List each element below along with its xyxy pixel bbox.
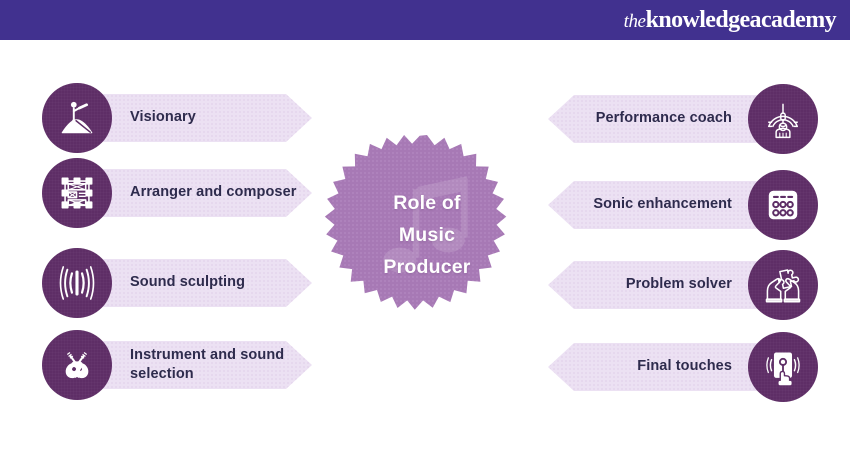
list-item-label: Visionary [130, 108, 196, 127]
brand-header: theknowledgeacademy [0, 0, 850, 40]
list-item-label: Sound sculpting [130, 273, 245, 292]
list-item-problem-solver[interactable]: Problem solver [548, 250, 818, 320]
crossed-guitars-icon [42, 330, 112, 400]
performance-coach-icon [748, 84, 818, 154]
list-item-arranger-and-composer[interactable]: Arranger and composer [42, 158, 312, 228]
list-item-sound-sculpting[interactable]: Sound sculpting [42, 248, 312, 318]
sound-wave-icon [42, 248, 112, 318]
list-item-visionary[interactable]: Visionary [42, 83, 312, 153]
mixer-panel-icon [748, 170, 818, 240]
banner-instrument-and-sound-selection: Instrument and sound selection [94, 341, 312, 389]
banner-problem-solver: Problem solver [548, 261, 766, 309]
brand-logo-name: knowledgeacademy [646, 7, 836, 33]
list-item-label: Instrument and sound selection [130, 346, 312, 384]
visionary-telescope-icon [42, 83, 112, 153]
list-item-final-touches[interactable]: Final touches [548, 332, 818, 402]
list-item-label: Problem solver [626, 275, 732, 294]
list-item-label: Performance coach [596, 109, 732, 128]
hands-puzzle-icon [748, 250, 818, 320]
banner-visionary: Visionary [94, 94, 312, 142]
brand-logo-the: the [624, 11, 646, 32]
center-title-line1: Role of [393, 192, 460, 215]
list-item-label: Sonic enhancement [593, 195, 732, 214]
list-item-label: Arranger and composer [130, 183, 296, 202]
banner-arranger-and-composer: Arranger and composer [94, 169, 312, 217]
center-title-line2: Music [399, 224, 455, 247]
banner-sonic-enhancement: Sonic enhancement [548, 181, 766, 229]
list-item-performance-coach[interactable]: Performance coach [548, 84, 818, 154]
center-title: Role of Music Producer [324, 132, 530, 338]
list-item-label: Final touches [637, 357, 732, 376]
banner-performance-coach: Performance coach [548, 95, 766, 143]
arranger-layout-icon [42, 158, 112, 228]
banner-sound-sculpting: Sound sculpting [94, 259, 312, 307]
infographic-canvas: theknowledgeacademy Visionary [0, 0, 850, 450]
hand-tap-screen-icon [748, 332, 818, 402]
list-item-instrument-and-sound-selection[interactable]: Instrument and sound selection [42, 330, 312, 400]
brand-logo: theknowledgeacademy [624, 8, 850, 32]
list-item-sonic-enhancement[interactable]: Sonic enhancement [548, 170, 818, 240]
banner-final-touches: Final touches [548, 343, 766, 391]
center-title-line3: Producer [383, 256, 470, 279]
center-starburst: Role of Music Producer [324, 132, 530, 338]
